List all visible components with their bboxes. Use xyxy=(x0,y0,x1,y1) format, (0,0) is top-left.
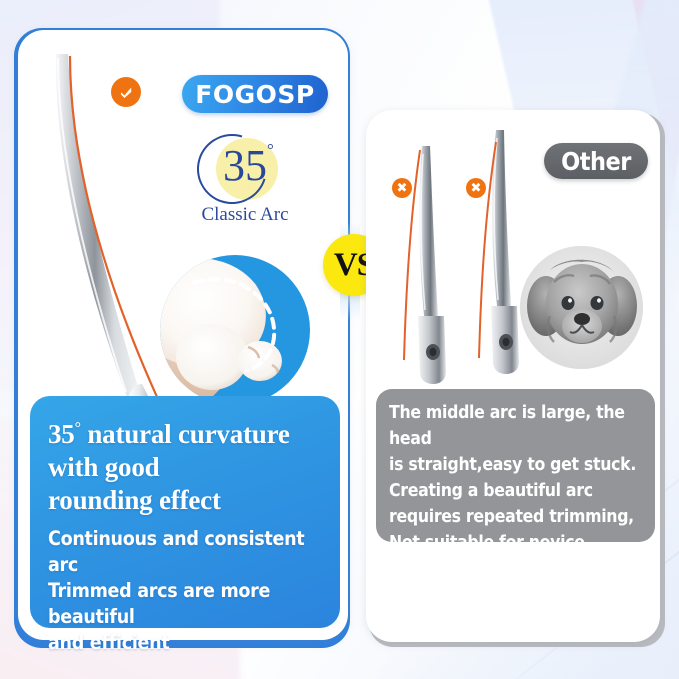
benefit-heading-line1: natural curvature xyxy=(81,419,290,449)
brand-badge: FOGOSP xyxy=(182,75,328,113)
check-circle-icon xyxy=(111,77,141,107)
classic-arc-mark: 35 ° Classic Arc xyxy=(185,132,305,232)
benefit-subtext-line: Trimmed arcs are more beautiful xyxy=(48,578,322,630)
competitor-drawback-panel: The middle arc is large, the head is str… xyxy=(376,389,655,542)
competitor-guide-arc-2 xyxy=(472,140,512,366)
brand-stylized-o: O xyxy=(213,80,235,109)
other-label: Other xyxy=(561,147,631,176)
cross-mark-glyph: ✖ xyxy=(471,182,482,195)
benefit-heading-number: 35 xyxy=(48,419,75,449)
benefit-subtext: Continuous and consistent arc Trimmed ar… xyxy=(48,526,322,656)
benefit-heading-line2: with good xyxy=(48,452,159,482)
drawback-line: requires repeated trimming, xyxy=(389,504,642,530)
cross-mark-glyph: ✖ xyxy=(397,182,408,195)
degree-symbol: ° xyxy=(267,140,274,160)
dashed-arc-overlay xyxy=(160,255,310,405)
drawback-line: Not suitable for novice groomers. xyxy=(389,530,642,582)
dog-face-illustration xyxy=(520,246,643,369)
cross-mark-icon: ✖ xyxy=(466,178,486,198)
left-benefit-panel: 35° natural curvature with good rounding… xyxy=(30,396,340,628)
brand-text-before: F xyxy=(195,80,213,109)
infographic-canvas: FOGOSP 35 ° Classic Arc xyxy=(0,0,679,679)
benefit-subtext-line: Continuous and consistent arc xyxy=(48,526,322,578)
other-badge: Other xyxy=(544,143,648,179)
benefit-heading-line3: rounding effect xyxy=(48,485,221,515)
benefit-subtext-line: and efficient xyxy=(48,630,322,656)
groomed-paw-photo xyxy=(160,255,310,405)
brand-label: FOGOSP xyxy=(195,80,314,109)
benefit-heading: 35° natural curvature with good rounding… xyxy=(48,412,322,517)
drawback-line: is straight,easy to get stuck. xyxy=(389,452,642,478)
drawback-line: Creating a beautiful arc xyxy=(389,478,642,504)
drawback-line: The middle arc is large, the head xyxy=(389,400,642,452)
classic-arc-label: Classic Arc xyxy=(183,204,307,226)
competitor-dog-photo xyxy=(520,246,643,369)
cross-mark-icon: ✖ xyxy=(392,178,412,198)
brand-text-after: GOSP xyxy=(235,80,315,109)
